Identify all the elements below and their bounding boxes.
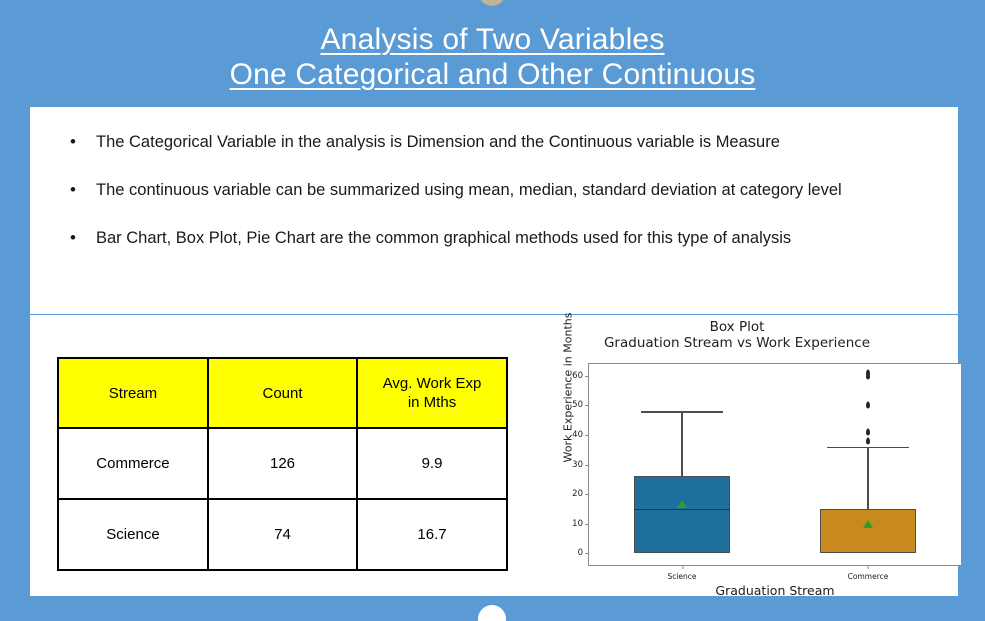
outlier-point [866,369,870,376]
bullet-marker-icon: • [70,225,96,251]
slide-title: Analysis of Two Variables One Categorica… [0,22,985,92]
chart-x-tick-science: Science [667,572,696,581]
chart-y-tick-20: 20 [572,489,589,499]
chart-x-tick-commerce: Commerce [848,572,889,581]
table-header-count: Count [208,358,357,428]
whisker-upper [681,411,683,476]
bullet-text: Bar Chart, Box Plot, Pie Chart are the c… [96,225,930,251]
whisker-cap-upper [641,411,722,413]
title-line-1: Analysis of Two Variables [0,22,985,57]
whisker-cap-upper [827,447,908,449]
mean-marker-commerce [863,520,873,528]
section-divider [30,314,958,315]
chart-y-tick-10: 10 [572,519,589,529]
decorative-shape-bottom [478,605,506,621]
table-header-stream: Stream [58,358,208,428]
bullet-list: • The Categorical Variable in the analys… [70,129,930,273]
table-body: Commerce 126 9.9 Science 74 16.7 [58,428,507,570]
table-header-row: Stream Count Avg. Work Exp in Mths [58,358,507,428]
list-item: • The continuous variable can be summari… [70,177,930,203]
table-row: Science 74 16.7 [58,499,507,570]
list-item: • Bar Chart, Box Plot, Pie Chart are the… [70,225,930,251]
table-row: Commerce 126 9.9 [58,428,507,499]
bullet-marker-icon: • [70,129,96,155]
median-line-science [634,509,731,511]
chart-title-line-2: Graduation Stream vs Work Experience [522,335,952,351]
bullet-text: The continuous variable can be summarize… [96,177,930,203]
cell-count: 74 [208,499,357,570]
box-science [634,476,731,553]
decorative-shape-top [478,0,506,6]
outlier-point [866,428,870,435]
whisker-upper [867,447,869,509]
slide: Analysis of Two Variables One Categorica… [0,0,985,614]
cell-avg-work-exp: 16.7 [357,499,507,570]
cell-avg-work-exp: 9.9 [357,428,507,499]
table-header: Stream Count Avg. Work Exp in Mths [58,358,507,428]
chart-plot-area: 0102030405060ScienceCommerce [588,363,962,566]
chart-title-line-1: Box Plot [522,319,952,335]
list-item: • The Categorical Variable in the analys… [70,129,930,155]
chart-y-tick-40: 40 [572,430,589,440]
chart-y-tick-0: 0 [578,548,589,558]
mean-marker-science [677,500,687,508]
chart-title: Box Plot Graduation Stream vs Work Exper… [522,319,952,351]
table-header-avg-line2: in Mths [408,394,456,411]
chart-y-tick-30: 30 [572,460,589,470]
bullet-text: The Categorical Variable in the analysis… [96,129,930,155]
outlier-point [866,437,870,444]
cell-count: 126 [208,428,357,499]
box-commerce [820,509,917,553]
chart-y-axis-label: Work Experience in Months [562,298,575,478]
summary-table: Stream Count Avg. Work Exp in Mths Comme… [57,357,508,571]
chart-x-axis-label: Graduation Stream [588,583,962,598]
outlier-point [866,402,870,409]
content-card: • The Categorical Variable in the analys… [30,107,958,596]
cell-stream: Commerce [58,428,208,499]
table-header-avg-line1: Avg. Work Exp [383,375,482,392]
bullet-marker-icon: • [70,177,96,203]
box-plot-chart: Box Plot Graduation Stream vs Work Exper… [522,319,952,591]
chart-y-tick-60: 60 [572,371,589,381]
title-line-2: One Categorical and Other Continuous [0,57,985,92]
chart-y-tick-50: 50 [572,400,589,410]
cell-stream: Science [58,499,208,570]
table-header-avg-work-exp: Avg. Work Exp in Mths [357,358,507,428]
